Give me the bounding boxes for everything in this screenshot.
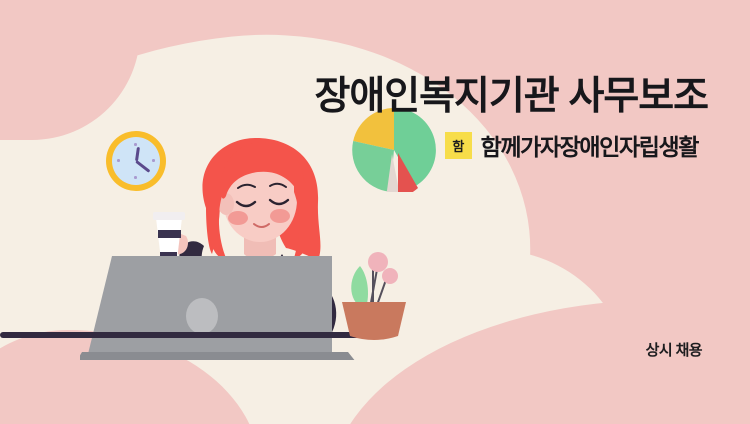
flower-bud-2 — [382, 268, 398, 284]
org-badge: 함 — [445, 132, 472, 159]
cheek-right — [270, 209, 290, 223]
laptop-base — [80, 352, 356, 360]
cheek-left — [228, 211, 248, 225]
flower-pot — [342, 302, 406, 340]
potted-plant — [326, 248, 418, 340]
cup-lid — [153, 212, 185, 220]
flower-bud-1 — [368, 252, 388, 272]
hiring-status-label: 상시 채용 — [646, 339, 702, 360]
organization-row: 함 함께가자장애인자립생활 — [445, 128, 698, 162]
page-title: 장애인복지기관 사무보조 — [238, 73, 708, 121]
desk-edge — [0, 332, 360, 338]
cup-band — [158, 230, 181, 238]
plant-leaf — [351, 266, 368, 308]
org-name: 함께가자장애인자립생활 — [481, 128, 698, 162]
laptop-logo — [186, 298, 218, 334]
job-posting-banner: 장애인복지기관 사무보조 함 함께가자장애인자립생활 상시 채용 — [0, 0, 750, 424]
